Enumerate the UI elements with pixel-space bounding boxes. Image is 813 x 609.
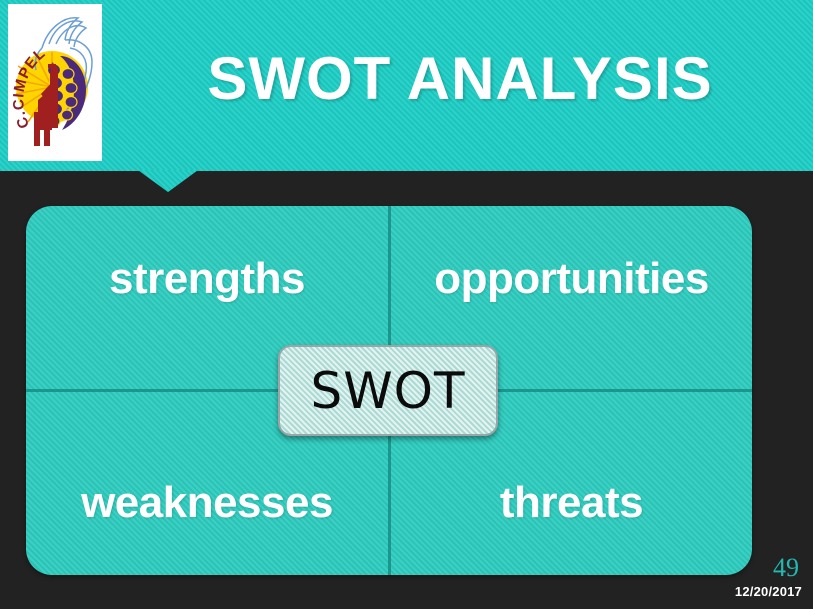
quadrant-opportunities[interactable]: opportunities	[391, 234, 752, 324]
footer-date: 12/20/2017	[735, 584, 802, 599]
quadrant-weaknesses-label: weaknesses	[81, 478, 333, 528]
page-number: 49	[773, 553, 799, 583]
quadrant-threats[interactable]: threats	[391, 458, 752, 548]
swot-center-label: SWOT	[310, 362, 465, 420]
quadrant-threats-label: threats	[500, 478, 643, 528]
slide: SWOT ANALYSIS	[0, 0, 813, 609]
quadrant-opportunities-label: opportunities	[434, 254, 709, 304]
quadrant-strengths[interactable]: strengths	[26, 234, 388, 324]
swot-center-badge[interactable]: SWOT	[278, 345, 498, 436]
quadrant-strengths-label: strengths	[109, 254, 305, 304]
page-title: SWOT ANALYSIS	[115, 44, 805, 114]
ccimpel-logo-artwork: C.CIMPEL	[8, 4, 102, 161]
quadrant-weaknesses[interactable]: weaknesses	[26, 458, 388, 548]
ccimpel-logo: C.CIMPEL	[8, 4, 102, 161]
